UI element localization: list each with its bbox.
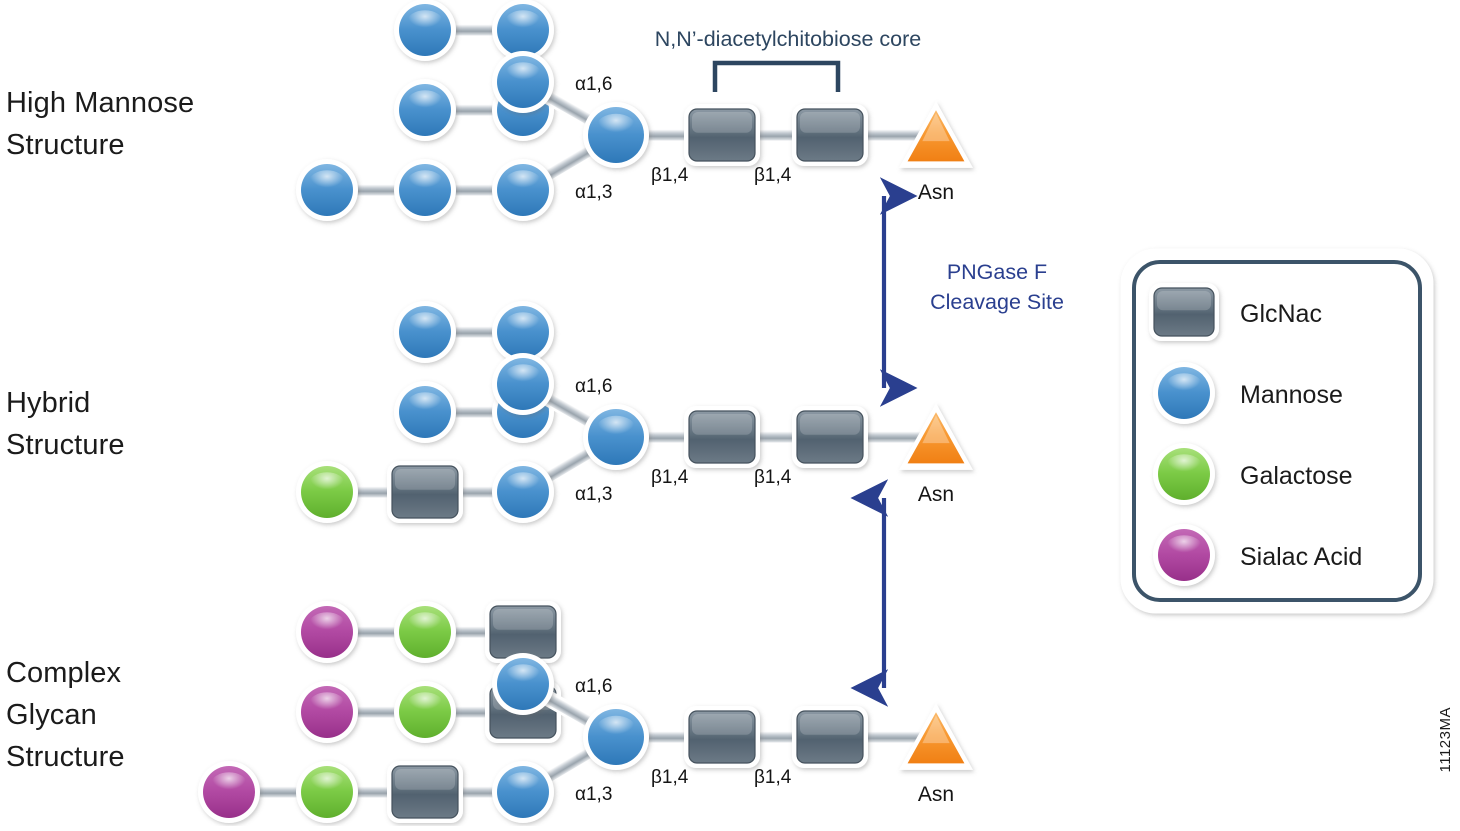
structure-label-line2: Glycan [6, 694, 125, 736]
bond-label-alpha16: α1,6 [575, 676, 612, 697]
chitobiose-core-bracket [715, 63, 838, 92]
node-galactose [296, 461, 358, 523]
structure-label-line2: Structure [6, 424, 125, 466]
bond-label-beta14-a: β1,4 [651, 467, 689, 488]
legend-item-label: Mannose [1240, 381, 1343, 409]
node-glcnac-core-2 [792, 104, 868, 166]
node-galactose [296, 761, 358, 823]
node-sialic-acid [296, 601, 358, 663]
node-mannose [492, 761, 554, 823]
bond-label-alpha13: α1,3 [575, 484, 612, 505]
bond-label-beta14-a: β1,4 [651, 767, 689, 788]
node-glcnac [387, 761, 463, 823]
node-mannose [296, 159, 358, 221]
structure-label-line1: Hybrid [6, 382, 125, 424]
structure-label-line1: High Mannose [6, 82, 194, 124]
bond-label-beta14-b: β1,4 [754, 165, 792, 186]
legend-swatch-glcnac [1149, 283, 1219, 341]
node-mannose-core [583, 404, 649, 470]
structure-label-line2: Structure [6, 124, 194, 166]
node-mannose-core [583, 102, 649, 168]
structure-label-line1: Complex [6, 652, 125, 694]
node-galactose [394, 681, 456, 743]
bond-label-beta14-b: β1,4 [754, 467, 792, 488]
node-glcnac-core-1 [684, 406, 760, 468]
node-mannose [492, 159, 554, 221]
bond-label-alpha13: α1,3 [575, 182, 612, 203]
node-glcnac-core-2 [792, 406, 868, 468]
asn-label: Asn [918, 483, 954, 506]
bond-label-beta14-a: β1,4 [651, 165, 689, 186]
node-sialic-acid [296, 681, 358, 743]
legend-item-label: GlcNac [1240, 300, 1322, 328]
legend-item-label: Sialac Acid [1240, 543, 1362, 571]
structure-label-line3: Structure [6, 736, 125, 778]
pngase-cleavage-label-line2: Cleavage Site [930, 290, 1064, 314]
node-glcnac-core-2 [792, 706, 868, 768]
node-mannose [394, 381, 456, 443]
node-mannose-arm [492, 51, 554, 113]
node-galactose [394, 601, 456, 663]
structure-label-high-mannose: High Mannose Structure [6, 82, 194, 166]
node-mannose [394, 0, 456, 61]
glycan-svg: α1,6α1,3β1,4β1,4Asnα1,6α1,3β1,4β1,4Asnα1… [0, 0, 1460, 826]
node-mannose [394, 79, 456, 141]
node-glcnac-core-1 [684, 706, 760, 768]
bond-label-alpha13: α1,3 [575, 784, 612, 805]
node-mannose [394, 159, 456, 221]
asn-label: Asn [918, 181, 954, 204]
legend-swatch-galactose [1153, 443, 1215, 505]
node-mannose-core [583, 704, 649, 770]
node-mannose [394, 301, 456, 363]
node-glcnac [387, 461, 463, 523]
structure-label-hybrid: Hybrid Structure [6, 382, 125, 466]
legend-swatch-mannose [1153, 362, 1215, 424]
bond-label-alpha16: α1,6 [575, 74, 612, 95]
node-mannose-arm [492, 353, 554, 415]
figure-code: 11123MA [1437, 707, 1454, 773]
chitobiose-core-label: N,N’-diacetylchitobiose core [655, 27, 921, 51]
glycan-diagram-canvas: High Mannose Structure Hybrid Structure … [0, 0, 1460, 826]
structure-hybrid: α1,6α1,3β1,4β1,4Asn [296, 301, 973, 523]
asn-label: Asn [918, 783, 954, 806]
node-glcnac-core-1 [684, 104, 760, 166]
node-sialic-acid [198, 761, 260, 823]
legend-item-label: Galactose [1240, 462, 1353, 490]
node-mannose [492, 461, 554, 523]
legend-swatch-sialic-acid [1153, 524, 1215, 586]
structure-label-complex-glycan: Complex Glycan Structure [6, 652, 125, 778]
pngase-cleavage-label-line1: PNGase F [947, 260, 1047, 284]
structure-complex-glycan: α1,6α1,3β1,4β1,4Asn [198, 601, 973, 823]
node-mannose-arm [492, 653, 554, 715]
bond-label-alpha16: α1,6 [575, 376, 612, 397]
bond-label-beta14-b: β1,4 [754, 767, 792, 788]
